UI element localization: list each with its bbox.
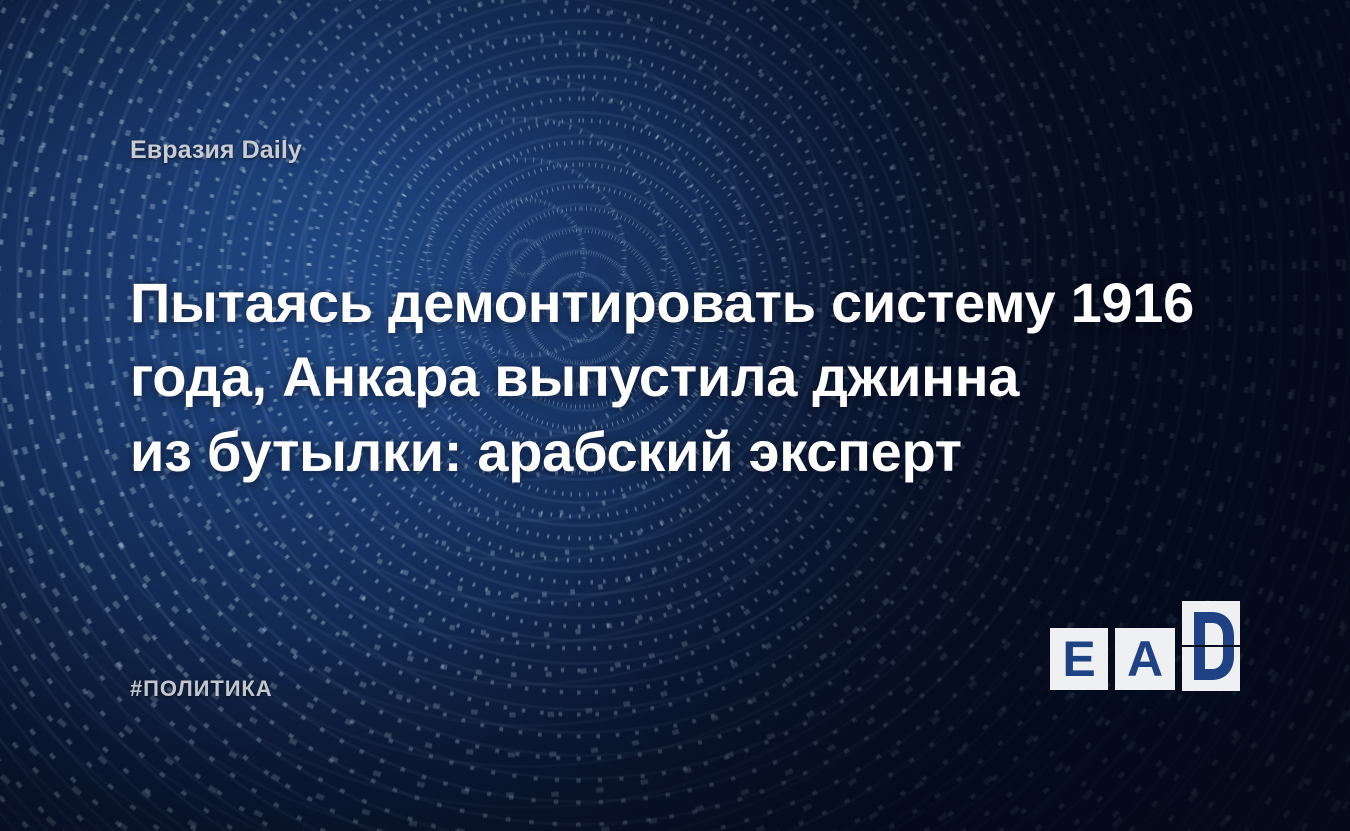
- brand-title: Евразия Daily: [130, 136, 302, 165]
- headline-line-2: года, Анкара выпустила джинна: [130, 340, 1220, 414]
- logo-tile-d-stack: [1182, 601, 1240, 691]
- page-title: Пытаясь демонтировать систему 1916 года,…: [130, 266, 1220, 489]
- category-hashtag[interactable]: #ПОЛИТИКА: [130, 676, 273, 702]
- card-content: Евразия Daily Пытаясь демонтировать сист…: [0, 0, 1350, 831]
- logo-tile-d-top: [1182, 601, 1240, 645]
- headline-line-3: из бутылки: арабский эксперт: [130, 415, 1220, 489]
- news-card: Евразия Daily Пытаясь демонтировать сист…: [0, 0, 1350, 831]
- logo-tile-a: A: [1115, 628, 1175, 690]
- logo-tile-d-bottom: [1182, 647, 1240, 691]
- headline-line-1: Пытаясь демонтировать систему 1916: [130, 266, 1220, 340]
- eadaily-logo[interactable]: E A: [1050, 628, 1240, 691]
- logo-tile-e: E: [1050, 628, 1108, 690]
